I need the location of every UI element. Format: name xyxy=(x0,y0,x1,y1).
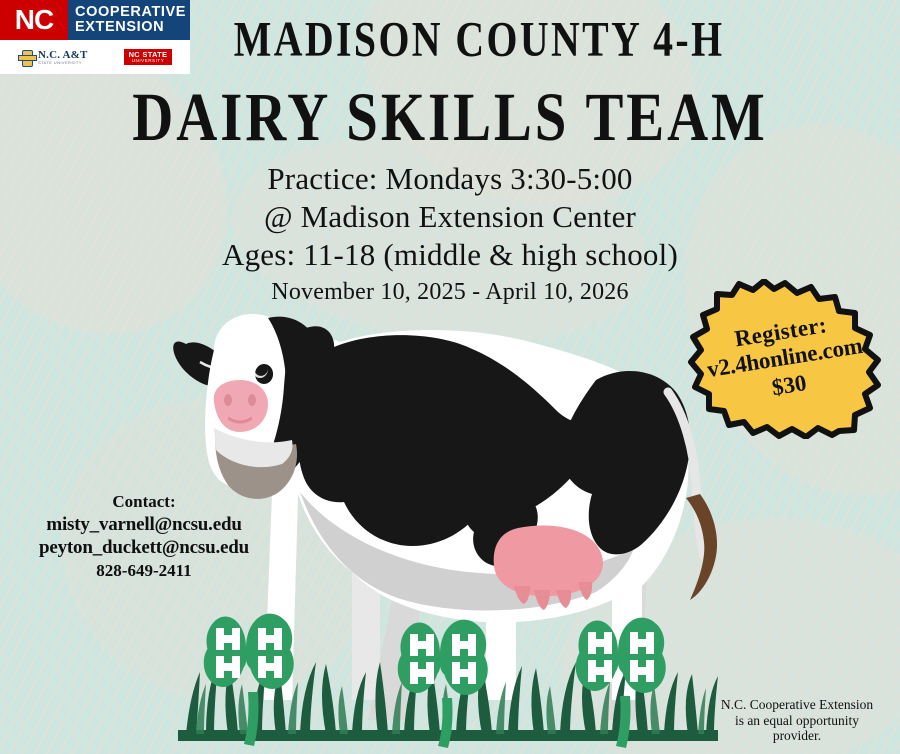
register-badge-text: Register: v2.4honline.com $30 xyxy=(673,264,898,454)
detail-practice: Practice: Mondays 3:30-5:00 xyxy=(0,160,900,198)
poster-canvas: NC COOPERATIVE EXTENSION N.C. A&T STATE … xyxy=(0,0,900,754)
nc-state-line2: UNIVERSITY xyxy=(132,59,165,64)
nc-at-line2: STATE UNIVERSITY xyxy=(38,61,88,65)
nc-at-seal-icon xyxy=(18,48,35,67)
disclaimer-line3: provider. xyxy=(704,728,890,744)
contact-email-2[interactable]: peyton_duckett@ncsu.edu xyxy=(6,536,282,559)
contact-email-1[interactable]: misty_varnell@ncsu.edu xyxy=(6,513,282,536)
logo-coop-line1: COOPERATIVE xyxy=(75,5,186,20)
detail-location: @ Madison Extension Center xyxy=(0,198,900,236)
detail-ages: Ages: 11-18 (middle & high school) xyxy=(0,236,900,274)
disclaimer-line2: is an equal opportunity xyxy=(704,713,890,729)
logo-coop-line2: EXTENSION xyxy=(75,20,164,35)
cooperative-extension-wordmark: COOPERATIVE EXTENSION xyxy=(68,0,190,40)
equal-opportunity-disclaimer: N.C. Cooperative Extension is an equal o… xyxy=(704,697,890,744)
contact-block: Contact: misty_varnell@ncsu.edu peyton_d… xyxy=(6,492,282,582)
nc-mark: NC xyxy=(0,0,68,40)
nc-at-state-university-logo: N.C. A&T STATE UNIVERSITY xyxy=(18,48,88,67)
nc-cooperative-extension-logo: NC COOPERATIVE EXTENSION N.C. A&T STATE … xyxy=(0,0,190,74)
nc-at-line1: N.C. A&T xyxy=(38,50,88,61)
contact-heading: Contact: xyxy=(6,492,282,513)
nc-state-university-logo: NC STATE UNIVERSITY xyxy=(124,49,173,66)
register-price: $30 xyxy=(770,370,808,401)
disclaimer-line1: N.C. Cooperative Extension xyxy=(704,697,890,713)
register-badge[interactable]: Register: v2.4honline.com $30 xyxy=(684,279,886,439)
logo-partner-bar: N.C. A&T STATE UNIVERSITY NC STATE UNIVE… xyxy=(0,40,190,74)
contact-phone[interactable]: 828-649-2411 xyxy=(6,561,282,582)
logo-top-bar: NC COOPERATIVE EXTENSION xyxy=(0,0,190,40)
